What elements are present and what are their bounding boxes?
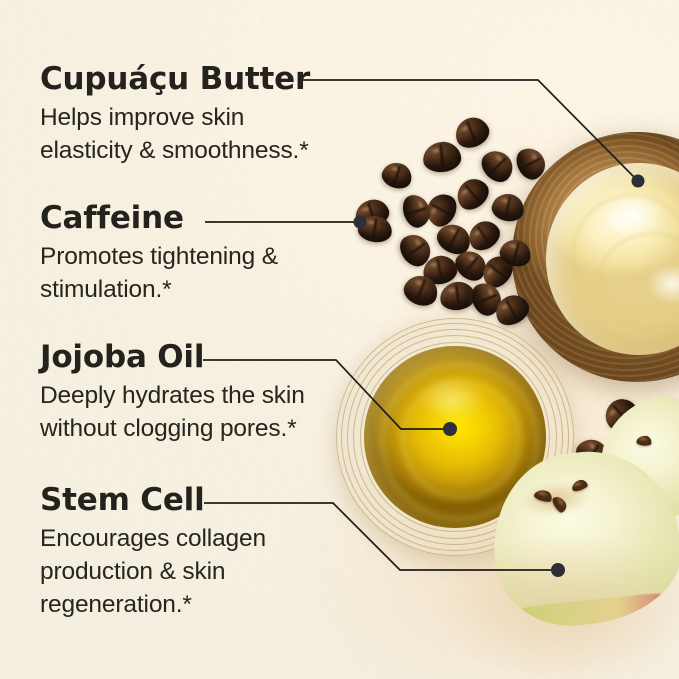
callout-description: Helps improve skinelasticity & smoothnes… xyxy=(40,101,370,167)
callout-description-line: Encourages collagen xyxy=(40,525,266,552)
callout-cupuacu-butter: Cupuáçu Butter Helps improve skinelastic… xyxy=(40,62,370,167)
coffee-bean xyxy=(463,215,505,255)
callout-description: Promotes tightening &stimulation.* xyxy=(40,240,370,306)
callout-title: Jojoba Oil xyxy=(40,340,370,374)
callout-description-line: without clogging pores.* xyxy=(40,415,297,442)
coffee-bean xyxy=(422,140,463,174)
callout-description-line: Deeply hydrates the skin xyxy=(40,382,305,409)
coffee-bean xyxy=(379,159,415,192)
callout-description-line: regeneration.* xyxy=(40,591,192,618)
callout-description: Deeply hydrates the skinwithout clogging… xyxy=(40,379,370,445)
callout-title: Stem Cell xyxy=(40,483,370,517)
callout-stem-cell: Stem Cell Encourages collagenproduction … xyxy=(40,483,370,621)
callout-description-line: stimulation.* xyxy=(40,276,172,303)
butter-highlight xyxy=(591,182,677,247)
ingredient-infographic: Cupuáçu Butter Helps improve skinelastic… xyxy=(0,0,679,679)
callout-description-line: Helps improve skin xyxy=(40,104,244,131)
callout-description-line: Promotes tightening & xyxy=(40,243,278,270)
coffee-bean xyxy=(451,173,494,216)
coffee-bean xyxy=(451,112,494,152)
oil-highlight xyxy=(404,368,499,430)
callout-description: Encourages collagenproduction & skinrege… xyxy=(40,522,370,621)
wood-board-shadow xyxy=(399,539,679,679)
callout-description-line: production & skin xyxy=(40,558,225,585)
callout-title: Cupuáçu Butter xyxy=(40,62,370,96)
callout-title: Caffeine xyxy=(40,201,370,235)
coffee-bean xyxy=(399,191,434,230)
callout-jojoba-oil: Jojoba Oil Deeply hydrates the skinwitho… xyxy=(40,340,370,445)
callout-description-line: elasticity & smoothness.* xyxy=(40,137,309,164)
callout-caffeine: Caffeine Promotes tightening &stimulatio… xyxy=(40,201,370,306)
